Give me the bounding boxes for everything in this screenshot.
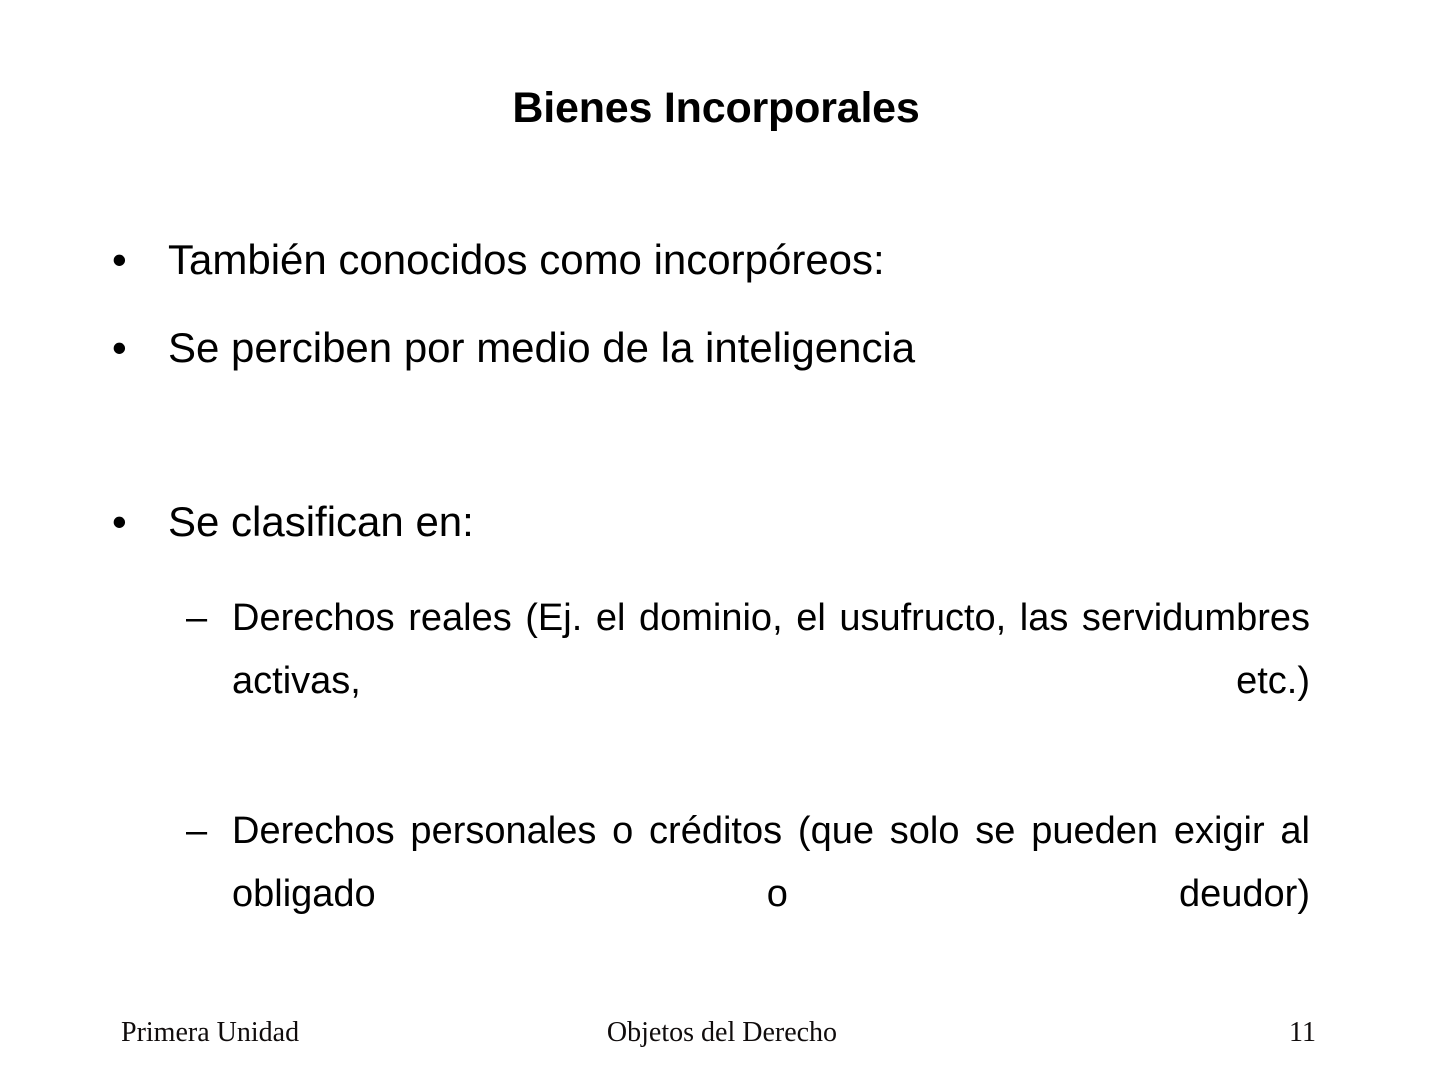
sub-bullet-spacer-top: [0, 546, 1440, 587]
footer-topic-label: Objetos del Derecho: [2, 1016, 1440, 1050]
bullet-item-2: • Se perciben por medio de la inteligenc…: [0, 324, 1440, 372]
sub-bullet-item-2-label: Derechos personales o créditos (que solo…: [232, 800, 1310, 989]
dash-icon: –: [186, 587, 226, 650]
sub-bullet-item-1-label: Derechos reales (Ej. el dominio, el usuf…: [232, 587, 1310, 776]
sub-bullet-item-2: – Derechos personales o créditos (que so…: [0, 800, 1440, 989]
bullet-item-3-label: Se clasifican en:: [168, 498, 1312, 546]
bullet-dot-icon: •: [112, 324, 152, 372]
page-title: Bienes Incorporales: [0, 82, 1436, 134]
bullet-item-3: • Se clasifican en:: [0, 498, 1440, 546]
slide-footer: Primera Unidad Objetos del Derecho 11: [0, 1000, 1440, 1080]
bullet-spacer-2: [0, 372, 1440, 498]
slide-body: • También conocidos como incorpóreos: • …: [0, 236, 1440, 989]
slide-canvas: Bienes Incorporales • También conocidos …: [0, 0, 1440, 1080]
dash-icon: –: [186, 800, 226, 863]
footer-page-number: 11: [1289, 1016, 1316, 1050]
sub-bullet-item-1: – Derechos reales (Ej. el dominio, el us…: [0, 587, 1440, 776]
bullet-item-1: • También conocidos como incorpóreos:: [0, 236, 1440, 284]
bullet-item-2-label: Se perciben por medio de la inteligencia: [168, 324, 1312, 372]
bullet-dot-icon: •: [112, 236, 152, 284]
bullet-spacer-1: [0, 284, 1440, 324]
sub-bullet-spacer: [0, 776, 1440, 800]
bullet-item-1-label: También conocidos como incorpóreos:: [168, 236, 1312, 284]
bullet-dot-icon: •: [112, 498, 152, 546]
